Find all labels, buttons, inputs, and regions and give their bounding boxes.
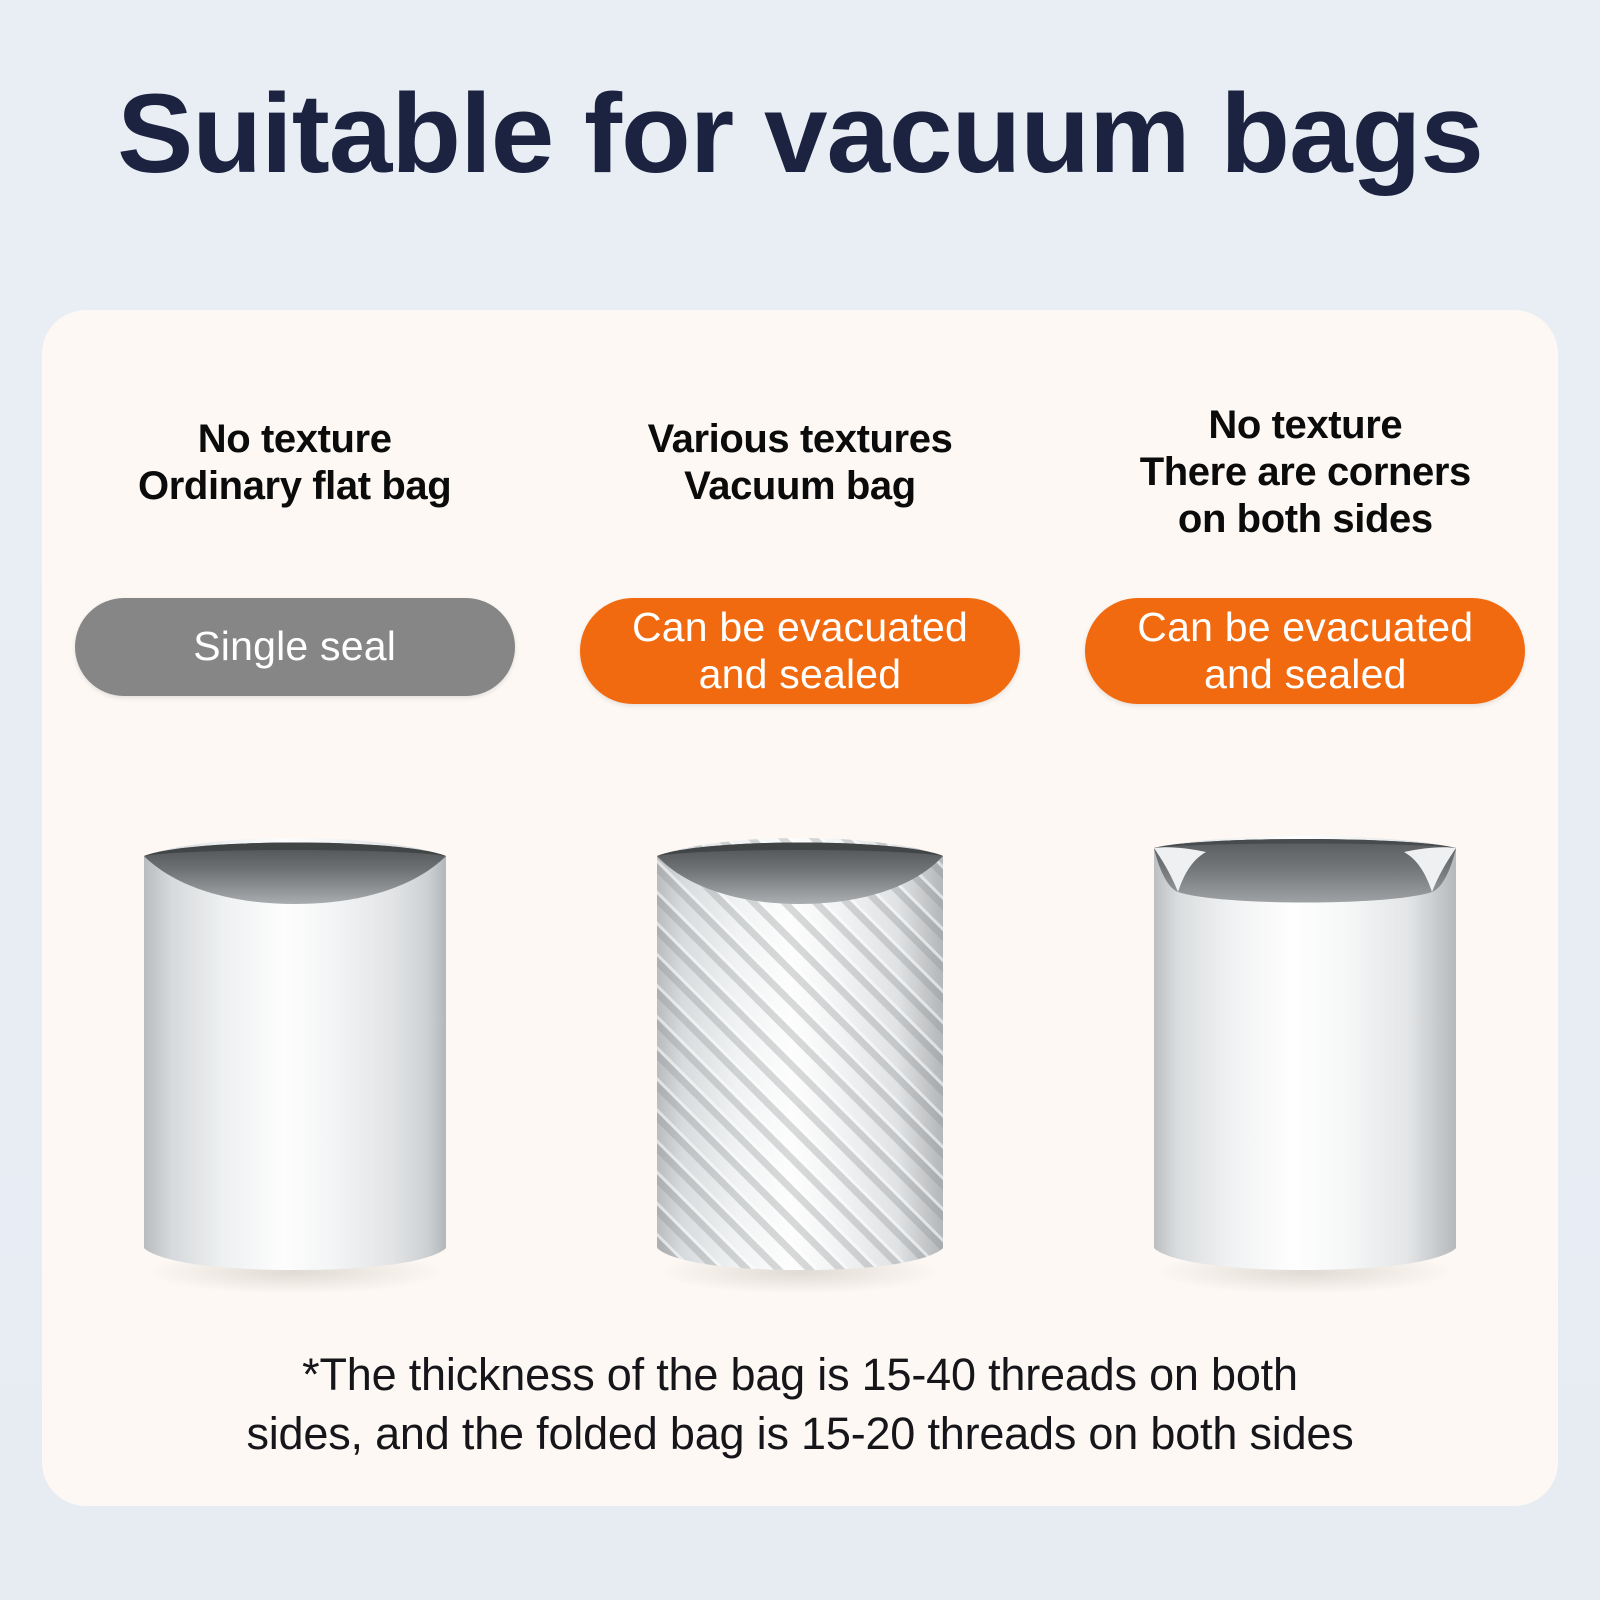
header-line: Vacuum bag (547, 463, 1052, 510)
badge-line: Can be evacuated (632, 604, 968, 651)
badge-line: Single seal (193, 623, 396, 670)
header-line: Ordinary flat bag (42, 463, 547, 510)
footnote-text: *The thickness of the bag is 15-40 threa… (132, 1345, 1468, 1464)
column-header-3: No texture There are corners on both sid… (1053, 402, 1558, 544)
header-line: There are corners (1053, 449, 1558, 496)
badge-container-1: Single seal (42, 598, 547, 696)
footnote-line: *The thickness of the bag is 15-40 threa… (132, 1345, 1468, 1404)
column-header-2: Various textures Vacuum bag (547, 416, 1052, 510)
gusseted-corner-bag-illustration (1140, 830, 1470, 1300)
comparison-columns: No texture Ordinary flat bag Single seal (42, 310, 1558, 1506)
bag-illustration-1 (42, 830, 547, 1310)
status-badge-evacuated-sealed-2[interactable]: Can be evacuated and sealed (580, 598, 1020, 704)
header-line: No texture (1053, 402, 1558, 449)
badge-line: and sealed (1137, 651, 1473, 698)
header-line: No texture (42, 416, 547, 463)
infographic-page: Suitable for vacuum bags No texture Ordi… (0, 0, 1600, 1600)
status-badge-evacuated-sealed-3[interactable]: Can be evacuated and sealed (1085, 598, 1525, 704)
badge-line: Can be evacuated (1137, 604, 1473, 651)
header-line: Various textures (547, 416, 1052, 463)
badge-container-2: Can be evacuated and sealed (547, 598, 1052, 704)
column-ordinary-flat-bag: No texture Ordinary flat bag Single seal (42, 310, 547, 1506)
header-line: on both sides (1053, 496, 1558, 543)
footnote-line: sides, and the folded bag is 15-20 threa… (132, 1404, 1468, 1463)
column-header-1: No texture Ordinary flat bag (42, 416, 547, 510)
badge-line: and sealed (632, 651, 968, 698)
badge-container-3: Can be evacuated and sealed (1053, 598, 1558, 704)
column-textured-vacuum-bag: Various textures Vacuum bag Can be evacu… (547, 310, 1052, 1506)
bag-illustration-2 (547, 830, 1052, 1310)
ordinary-flat-bag-illustration (130, 830, 460, 1300)
bag-illustration-3 (1053, 830, 1558, 1310)
column-gusseted-corner-bag: No texture There are corners on both sid… (1053, 310, 1558, 1506)
comparison-card: No texture Ordinary flat bag Single seal (42, 310, 1558, 1506)
status-badge-single-seal[interactable]: Single seal (75, 598, 515, 696)
textured-vacuum-bag-illustration (645, 830, 955, 1300)
page-title: Suitable for vacuum bags (0, 78, 1600, 190)
